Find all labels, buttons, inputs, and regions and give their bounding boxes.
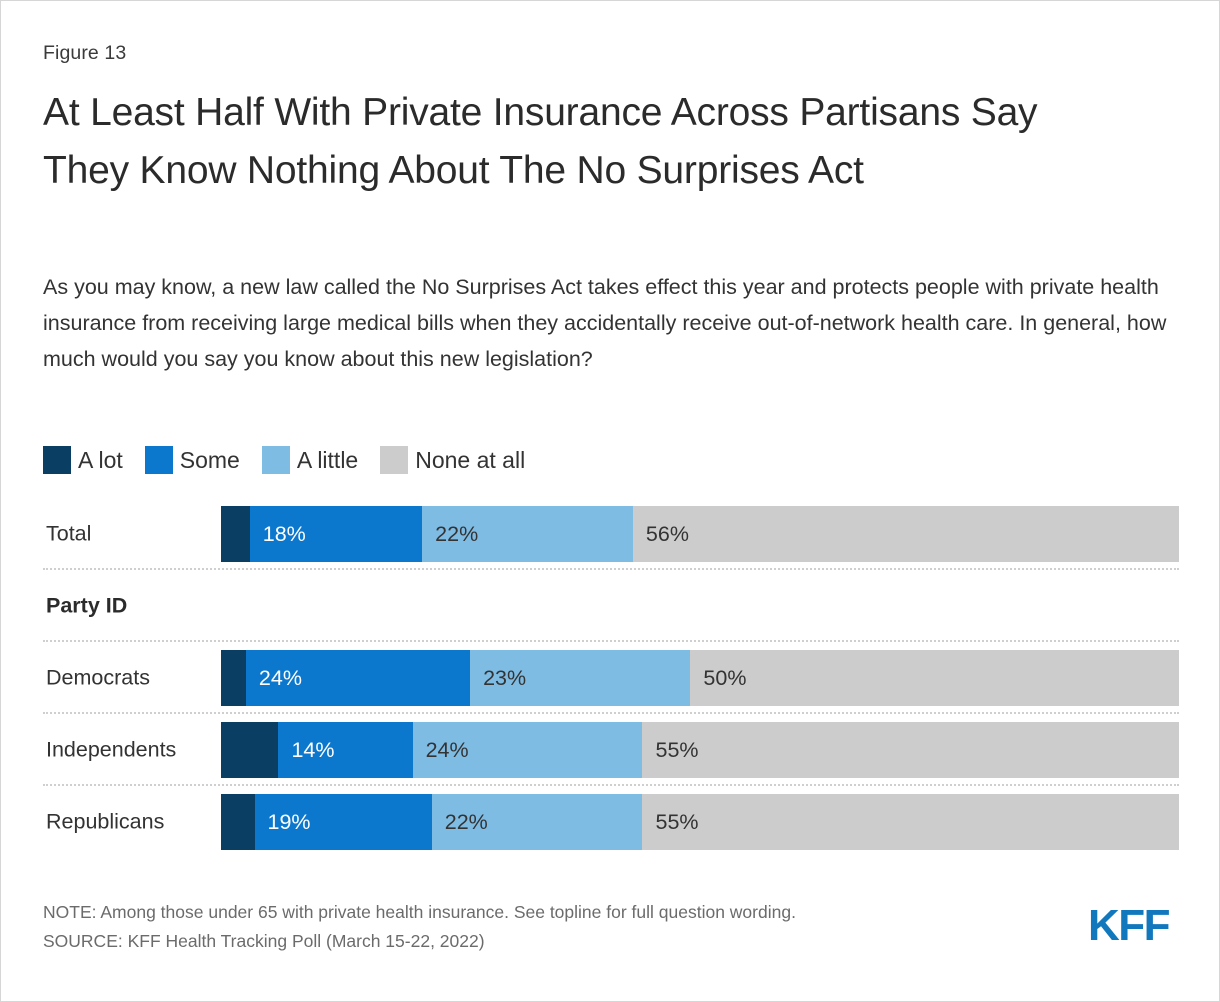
- bar-segment[interactable]: 18%: [250, 506, 422, 562]
- chart-question-text: As you may know, a new law called the No…: [43, 269, 1178, 377]
- bar-segment[interactable]: 22%: [432, 794, 643, 850]
- bar-segment[interactable]: 56%: [633, 506, 1179, 562]
- bar-segment[interactable]: 14%: [278, 722, 412, 778]
- bar-segment[interactable]: [221, 794, 255, 850]
- bar-segment[interactable]: [221, 650, 246, 706]
- legend-item[interactable]: A lot: [43, 446, 123, 474]
- bar-segment-value: 56%: [633, 522, 689, 547]
- row-label: Total: [46, 522, 91, 547]
- bar-segment[interactable]: 55%: [642, 722, 1178, 778]
- row-label: Democrats: [46, 666, 150, 691]
- page-title: At Least Half With Private Insurance Acr…: [43, 84, 1103, 200]
- bar-segment-value: 55%: [642, 810, 698, 835]
- legend-label: Some: [180, 447, 240, 474]
- legend-swatch-icon: [43, 446, 71, 474]
- kff-logo: KFF: [1088, 901, 1169, 951]
- bar-segment[interactable]: [221, 506, 250, 562]
- stacked-bar: 18%22%56%: [221, 506, 1179, 562]
- stacked-bar: 19%22%55%: [221, 794, 1179, 850]
- footnote-source: SOURCE: KFF Health Tracking Poll (March …: [43, 927, 1177, 956]
- chart-row: Total18%22%56%: [43, 498, 1179, 570]
- group-header-row: Party ID: [43, 570, 1179, 642]
- bar-segment-value: 14%: [278, 738, 334, 763]
- bar-segment[interactable]: 22%: [422, 506, 633, 562]
- bar-segment-value: 22%: [432, 810, 488, 835]
- legend-swatch-icon: [145, 446, 173, 474]
- bar-segment-value: 18%: [250, 522, 306, 547]
- chart-row: Democrats24%23%50%: [43, 642, 1179, 714]
- bar-segment[interactable]: 24%: [413, 722, 643, 778]
- bar-segment-value: 23%: [470, 666, 526, 691]
- legend-item[interactable]: A little: [262, 446, 358, 474]
- stacked-bar: 14%24%55%: [221, 722, 1179, 778]
- chart-page: Figure 13 At Least Half With Private Ins…: [0, 0, 1220, 1002]
- bar-segment-value: 19%: [255, 810, 311, 835]
- row-label: Republicans: [46, 810, 164, 835]
- figure-label: Figure 13: [43, 42, 126, 65]
- chart-plot-area: Total18%22%56%Party IDDemocrats24%23%50%…: [43, 498, 1179, 858]
- group-header-label: Party ID: [46, 594, 127, 619]
- legend-label: A lot: [78, 447, 123, 474]
- bar-segment[interactable]: 55%: [642, 794, 1178, 850]
- bar-segment[interactable]: 19%: [255, 794, 432, 850]
- bar-segment-value: 55%: [642, 738, 698, 763]
- bar-segment-value: 24%: [246, 666, 302, 691]
- legend-swatch-icon: [262, 446, 290, 474]
- bar-segment[interactable]: [221, 722, 278, 778]
- bar-segment-value: 50%: [690, 666, 746, 691]
- legend-swatch-icon: [380, 446, 408, 474]
- legend-label: None at all: [415, 447, 525, 474]
- chart-row: Republicans19%22%55%: [43, 786, 1179, 858]
- legend-label: A little: [297, 447, 358, 474]
- legend-item[interactable]: Some: [145, 446, 240, 474]
- legend-item[interactable]: None at all: [380, 446, 525, 474]
- bar-segment-value: 24%: [413, 738, 469, 763]
- chart-legend: A lotSomeA littleNone at all: [43, 446, 547, 474]
- bar-segment[interactable]: 50%: [690, 650, 1179, 706]
- bar-segment-value: 22%: [422, 522, 478, 547]
- bar-segment[interactable]: 23%: [470, 650, 690, 706]
- bar-segment[interactable]: 24%: [246, 650, 470, 706]
- chart-footer: NOTE: Among those under 65 with private …: [43, 898, 1177, 956]
- chart-row: Independents14%24%55%: [43, 714, 1179, 786]
- row-label: Independents: [46, 738, 176, 763]
- footnote-note: NOTE: Among those under 65 with private …: [43, 898, 1177, 927]
- stacked-bar: 24%23%50%: [221, 650, 1179, 706]
